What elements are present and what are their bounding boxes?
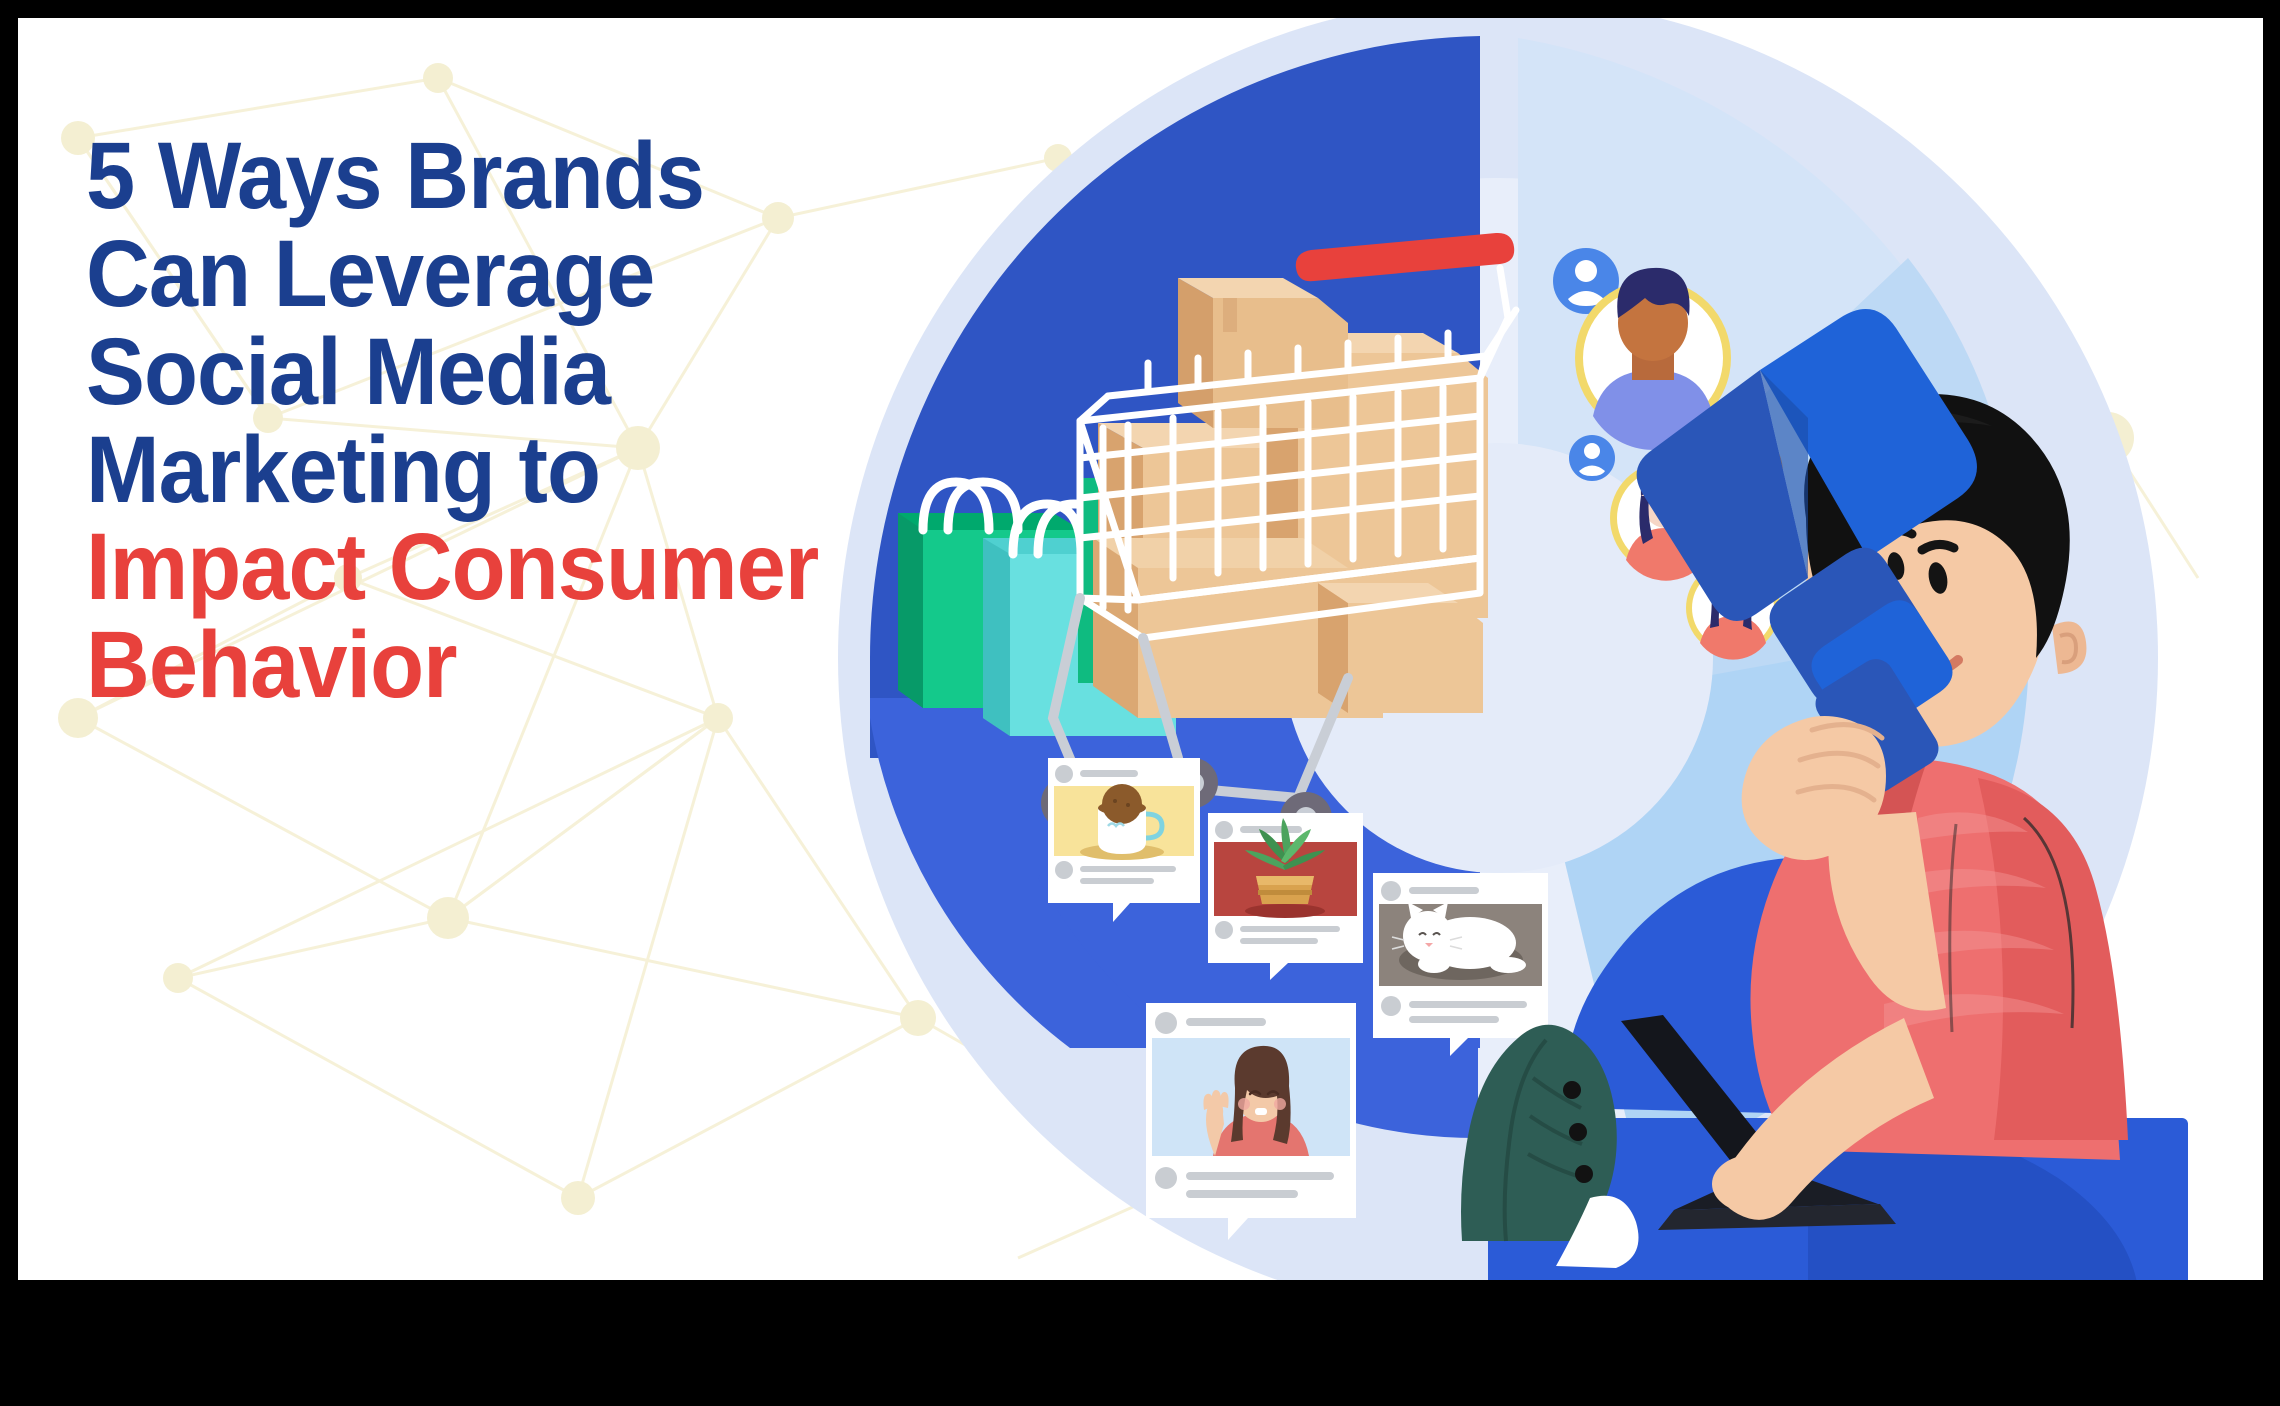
headline-line-4: Marketing to bbox=[86, 422, 1016, 520]
headline-line-1: 5 Ways Brands bbox=[86, 128, 1016, 226]
headline-line-2: Can Leverage bbox=[86, 226, 1016, 324]
post-card-selfie bbox=[1146, 1003, 1356, 1240]
headline-line-5: Impact Consumer bbox=[86, 519, 1016, 617]
post-avatar-placeholder bbox=[1055, 765, 1073, 783]
user-badge-icon-2 bbox=[1569, 435, 1615, 481]
post-card-coffee bbox=[1048, 758, 1200, 922]
post-card-cat bbox=[1373, 873, 1548, 1056]
headline-block: 5 Ways Brands Can Leverage Social Media … bbox=[86, 128, 1086, 715]
headline-line-3: Social Media bbox=[86, 324, 1016, 422]
banner-canvas: 5 Ways Brands Can Leverage Social Media … bbox=[18, 18, 2263, 1280]
headline-line-6: Behavior bbox=[86, 617, 1016, 715]
post-card-plant bbox=[1208, 813, 1363, 980]
